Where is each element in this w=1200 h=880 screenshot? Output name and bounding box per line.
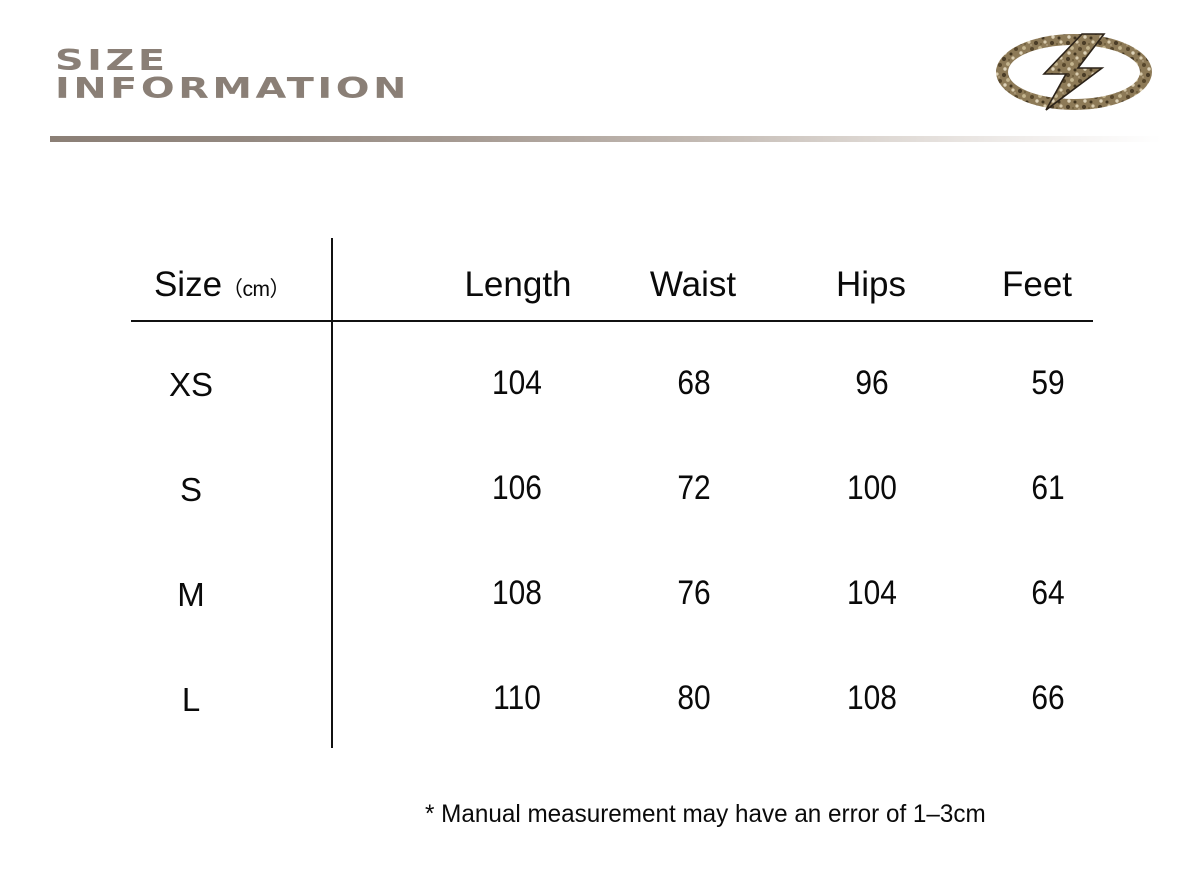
cell-length: 110 xyxy=(438,679,596,718)
row-size-label: L xyxy=(132,681,250,719)
row-size-label: M xyxy=(132,576,250,614)
table-vertical-divider xyxy=(331,238,333,748)
column-header-size: Size（cm） xyxy=(132,262,312,308)
cell-feet: 59 xyxy=(969,364,1127,403)
table-horizontal-divider xyxy=(131,320,1093,322)
size-table: Size（cm） Length Waist Hips Feet XS 104 6… xyxy=(0,0,1200,880)
cell-waist: 80 xyxy=(615,679,773,718)
column-header-feet: Feet xyxy=(947,262,1127,308)
cell-waist: 72 xyxy=(615,469,773,508)
column-header-size-label: Size xyxy=(154,265,222,304)
cell-waist: 68 xyxy=(615,364,773,403)
cell-length: 106 xyxy=(438,469,596,508)
cell-hips: 96 xyxy=(793,364,951,403)
column-header-size-unit: （cm） xyxy=(222,278,290,301)
cell-hips: 100 xyxy=(793,469,951,508)
cell-length: 108 xyxy=(438,574,596,613)
column-header-waist: Waist xyxy=(603,262,783,308)
row-size-label: XS xyxy=(132,366,250,404)
cell-hips: 108 xyxy=(793,679,951,718)
column-header-length: Length xyxy=(428,262,608,308)
cell-hips: 104 xyxy=(793,574,951,613)
cell-feet: 61 xyxy=(969,469,1127,508)
row-size-label: S xyxy=(132,471,250,509)
column-header-hips: Hips xyxy=(781,262,961,308)
cell-length: 104 xyxy=(438,364,596,403)
cell-waist: 76 xyxy=(615,574,773,613)
measurement-disclaimer: * Manual measurement may have an error o… xyxy=(425,800,1085,829)
cell-feet: 64 xyxy=(969,574,1127,613)
cell-feet: 66 xyxy=(969,679,1127,718)
size-chart-page: SIZE INFORMATION xyxy=(0,0,1200,880)
